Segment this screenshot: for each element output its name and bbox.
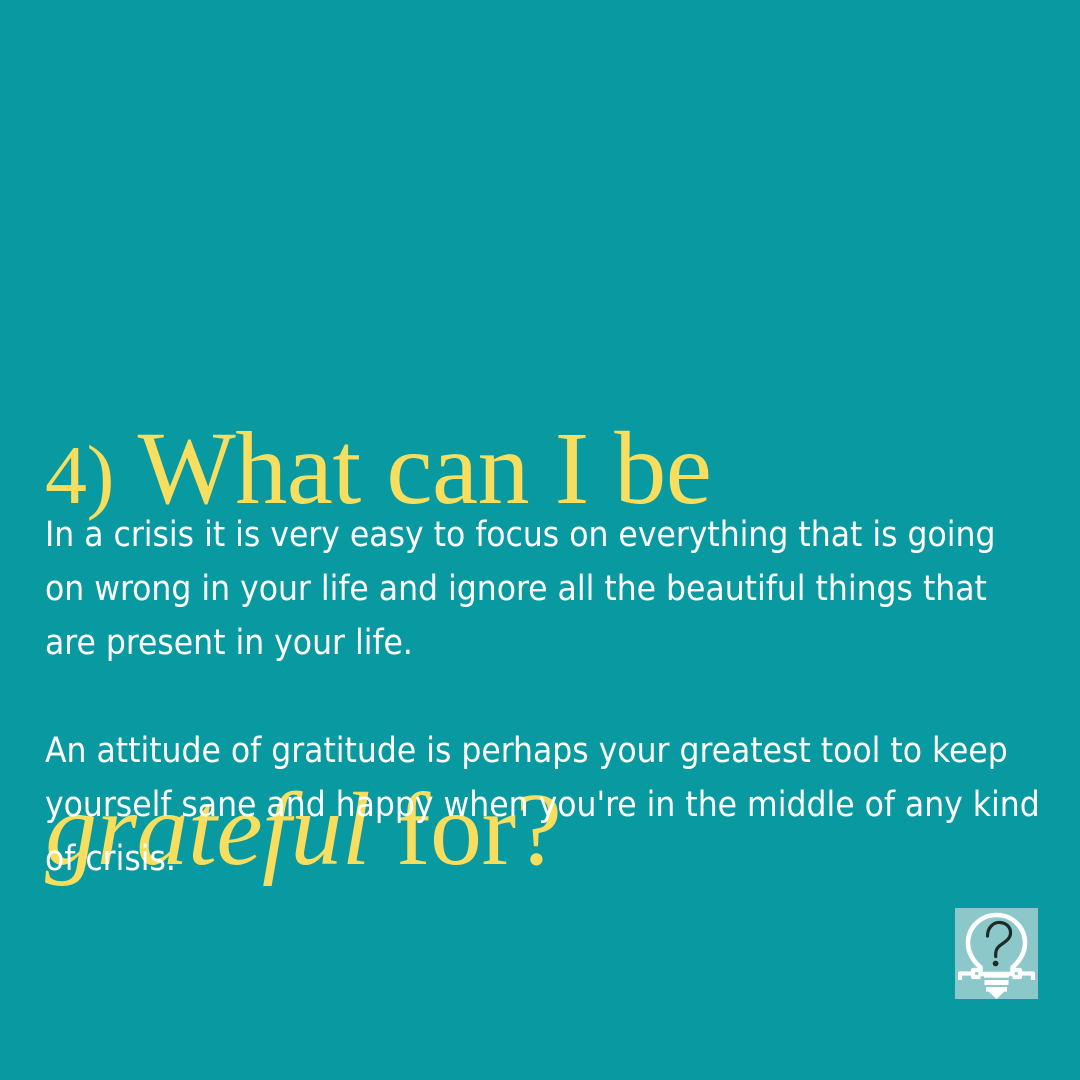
paragraph-spacer <box>45 670 1040 724</box>
body-paragraph-2: An attitude of gratitude is perhaps your… <box>45 724 1040 886</box>
body-copy: In a crisis it is very easy to focus on … <box>45 508 1040 886</box>
body-paragraph-1: In a crisis it is very easy to focus on … <box>45 508 1040 670</box>
brand-logo <box>955 908 1038 999</box>
slide-canvas: 4) What can I be grateful for? In a cris… <box>0 0 1080 1080</box>
lightbulb-question-icon <box>955 908 1038 999</box>
